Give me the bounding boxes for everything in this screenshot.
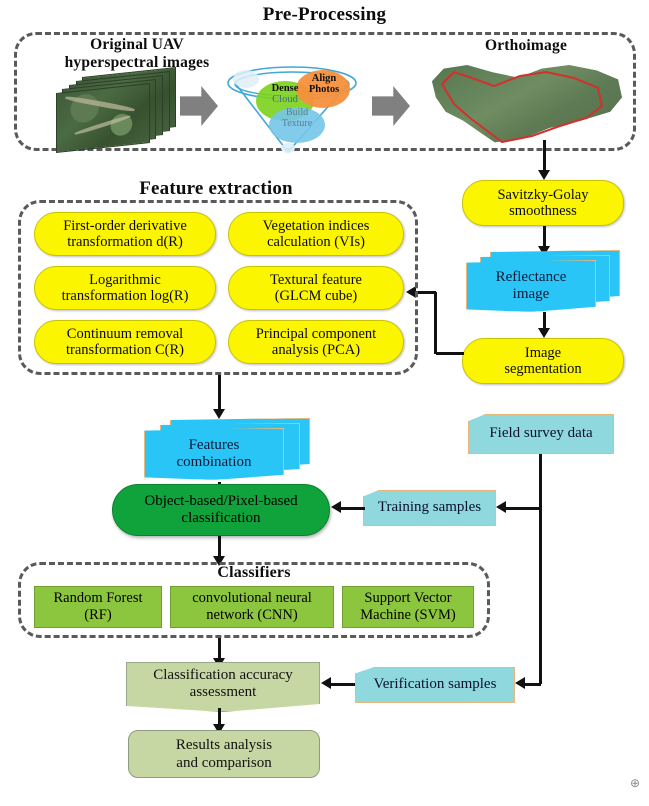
arrow-line-survey-to-verification [523, 683, 541, 686]
verification-samples-node[interactable]: Verification samples [355, 667, 515, 703]
uav-photo-1 [56, 83, 150, 153]
reflectance-sheet-1: Reflectance image [466, 260, 596, 312]
arrow-line-training-to-classification [341, 507, 365, 510]
fe-item-pca[interactable]: Principal component analysis (PCA) [228, 320, 404, 364]
fe-item-first-order-derivative[interactable]: First-order derivative transformation d(… [34, 212, 216, 256]
classifier-2-text: Support Vector Machine (SVM) [360, 590, 455, 623]
results-analysis-text: Results analysis and comparison [176, 736, 272, 772]
pilcrow-mark: ⊕ [630, 776, 640, 790]
orthoimage-graphic [428, 56, 624, 146]
accuracy-assessment-text: Classification accuracy assessment [153, 667, 293, 708]
classification-node[interactable]: Object-based/Pixel-based classification [112, 484, 330, 536]
features-combination-stack[interactable]: Features combination [140, 418, 320, 482]
uav-image-stack [56, 72, 186, 150]
field-survey-data-text: Field survey data [489, 425, 592, 442]
arrow-line-seg-into-fe [415, 291, 436, 294]
fe-item-textural-feature[interactable]: Textural feature (GLCM cube) [228, 266, 404, 310]
reflectance-image-text: Reflectance image [496, 269, 567, 304]
fe-item-logarithmic[interactable]: Logarithmic transformation log(R) [34, 266, 216, 310]
classifier-svm[interactable]: Support Vector Machine (SVM) [342, 586, 474, 628]
classifier-1-text: convolutional neural network (CNN) [192, 590, 312, 623]
fe-item-4-text: Continuum removal transformation C(R) [66, 326, 184, 358]
classification-text: Object-based/Pixel-based classification [144, 493, 297, 528]
fe-item-3-text: Textural feature (GLCM cube) [270, 272, 362, 304]
uav-input-label-line2: hyperspectral images [30, 54, 244, 72]
dense-cloud-label-line1: Dense [260, 83, 310, 94]
training-samples-text: Training samples [378, 499, 481, 516]
savitzky-golay-node[interactable]: Savitzky-Golay smoothness [462, 180, 624, 226]
arrow-head-ortho-to-savitzky [538, 170, 550, 180]
classifier-0-text: Random Forest (RF) [53, 590, 142, 623]
image-segmentation-text: Image segmentation [504, 345, 581, 377]
arrow-line-fe-to-features [218, 375, 221, 411]
fe-item-continuum-removal[interactable]: Continuum removal transformation C(R) [34, 320, 216, 364]
orthoimage-boundary-svg [428, 56, 624, 146]
arrow-line-seg-left [436, 352, 464, 355]
arrow-line-verification-to-accuracy [331, 683, 355, 686]
training-samples-node[interactable]: Training samples [363, 490, 496, 526]
dense-cloud-label-line2: Cloud [260, 94, 310, 105]
reflectance-image-stack[interactable]: Reflectance image [462, 250, 622, 312]
arrow-line-savitzky-to-reflectance [543, 226, 546, 248]
arrow-line-survey-to-training [504, 507, 540, 510]
fe-item-2-text: Logarithmic transformation log(R) [62, 272, 189, 304]
image-segmentation-node[interactable]: Image segmentation [462, 338, 624, 384]
fe-item-vegetation-indices[interactable]: Vegetation indices calculation (VIs) [228, 212, 404, 256]
fe-item-1-text: Vegetation indices calculation (VIs) [263, 218, 370, 250]
fe-item-0-text: First-order derivative transformation d(… [63, 218, 187, 250]
arrow-head-verification-to-accuracy [321, 677, 331, 689]
accuracy-assessment-node[interactable]: Classification accuracy assessment [126, 662, 320, 712]
arrow-head-reflectance-to-segmentation [538, 328, 550, 338]
field-survey-data-node[interactable]: Field survey data [468, 414, 614, 454]
arrow-line-ortho-to-savitzky [543, 140, 546, 172]
fe-item-5-text: Principal component analysis (PCA) [256, 326, 376, 358]
orthoimage-label: Orthoimage [436, 37, 616, 55]
arrow-line-seg-up [434, 292, 437, 354]
preprocessing-title: Pre-Processing [0, 4, 649, 26]
savitzky-golay-text: Savitzky-Golay smoothness [497, 187, 588, 219]
photogrammetry-funnel-graphic: Align Photos Dense Cloud Build Texture [216, 55, 366, 155]
arrow-line-field-survey-trunk [539, 454, 542, 684]
classifier-random-forest[interactable]: Random Forest (RF) [34, 586, 162, 628]
results-analysis-node[interactable]: Results analysis and comparison [128, 730, 320, 778]
arrow-head-survey-to-training [496, 501, 506, 513]
classifier-cnn[interactable]: convolutional neural network (CNN) [170, 586, 334, 628]
arrow-head-survey-to-verification [515, 677, 525, 689]
features-combination-text: Features combination [177, 437, 252, 472]
build-texture-label-line2: Texture [270, 119, 324, 130]
classifiers-title: Classifiers [18, 564, 490, 582]
build-texture-label-line1: Build [272, 108, 322, 119]
verification-samples-text: Verification samples [374, 676, 497, 693]
features-sheet-1: Features combination [144, 428, 284, 480]
arrow-head-training-to-classification [331, 501, 341, 513]
uav-input-label-line1: Original UAV [52, 36, 222, 54]
feature-extraction-title: Feature extraction [16, 178, 416, 200]
